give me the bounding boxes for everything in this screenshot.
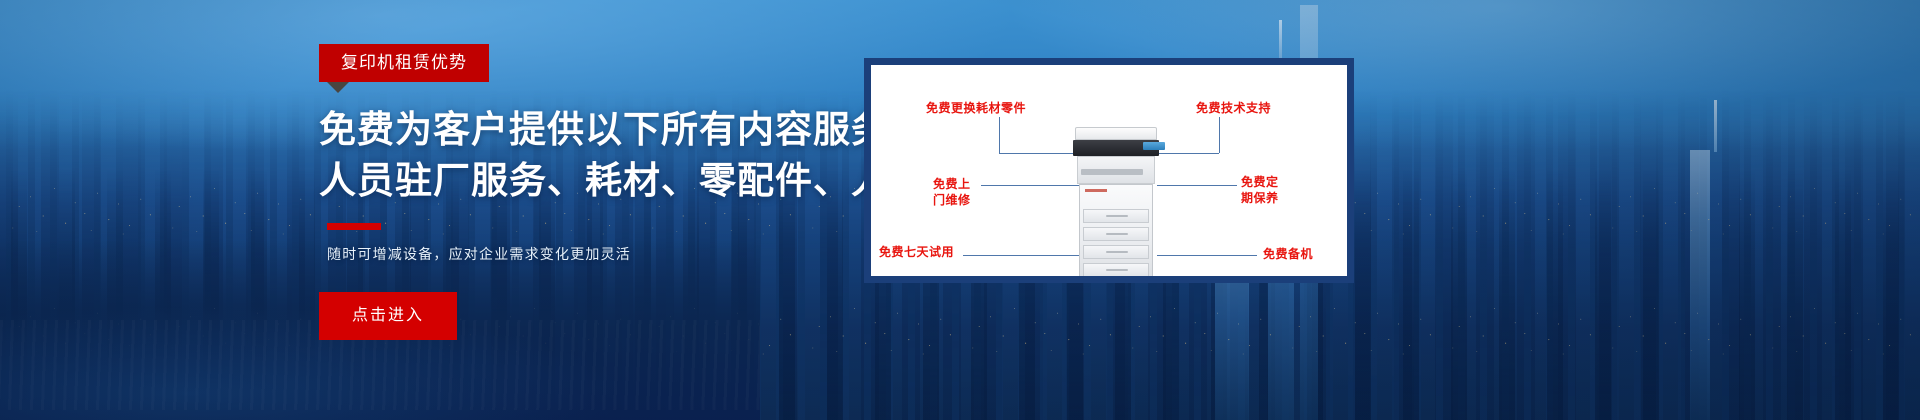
tower-spire: [1279, 20, 1282, 62]
copier-paper-tray: [1083, 209, 1149, 223]
headline-underline: [327, 223, 381, 230]
headline-line-2: 人员驻厂服务、耗材、零配件、人工费: [319, 155, 879, 206]
feature-label-replace-parts: 免费更换耗材零件: [926, 101, 1026, 117]
feature-label-periodic-maintenance: 免费定 期保养: [1241, 175, 1279, 206]
category-tag-wrap: 复印机租赁优势: [319, 44, 489, 82]
copier-lid: [1075, 127, 1157, 140]
copier-output-slot: [1081, 169, 1143, 175]
copier-paper-tray: [1083, 227, 1149, 241]
headline-line-1: 免费为客户提供以下所有内容服务：: [319, 109, 927, 150]
connector-line: [999, 117, 1000, 153]
category-tag: 复印机租赁优势: [319, 44, 489, 82]
promo-banner: 复印机租赁优势 免费为客户提供以下所有内容服务： 人员驻厂服务、耗材、零配件、人…: [0, 0, 1920, 420]
copier-control-panel: [1143, 142, 1165, 150]
subtitle: 随时可增减设备，应对企业需求变化更加灵活: [327, 244, 879, 264]
connector-line: [1219, 117, 1220, 153]
connector-line: [1157, 185, 1237, 186]
copier-paper-tray: [1083, 263, 1149, 276]
banner-copy-block: 复印机租赁优势 免费为客户提供以下所有内容服务： 人员驻厂服务、耗材、零配件、人…: [319, 44, 879, 340]
feature-label-onsite-repair: 免费上 门维修: [933, 177, 971, 208]
feature-label-tech-support: 免费技术支持: [1196, 101, 1271, 117]
connector-line: [981, 185, 1081, 186]
connector-line: [1157, 255, 1257, 256]
headline: 免费为客户提供以下所有内容服务： 人员驻厂服务、耗材、零配件、人工费: [319, 104, 879, 206]
product-feature-panel: 免费更换耗材零件 免费上 门维修 免费七天试用 免费技术支持 免费定 期保养 免…: [864, 58, 1354, 283]
feature-label-seven-day-trial: 免费七天试用: [879, 245, 954, 261]
feature-label-backup-machine: 免费备机: [1263, 247, 1313, 263]
copier-paper-tray: [1083, 245, 1149, 259]
tag-pointer-icon: [327, 82, 349, 93]
panel-inner: 免费更换耗材零件 免费上 门维修 免费七天试用 免费技术支持 免费定 期保养 免…: [871, 65, 1347, 276]
connector-line: [1155, 153, 1219, 154]
enter-button[interactable]: 点击进入: [319, 292, 457, 340]
copier-brand-logo: [1085, 189, 1107, 192]
connector-line: [963, 255, 1081, 256]
copier-machine-image: [1069, 127, 1163, 276]
